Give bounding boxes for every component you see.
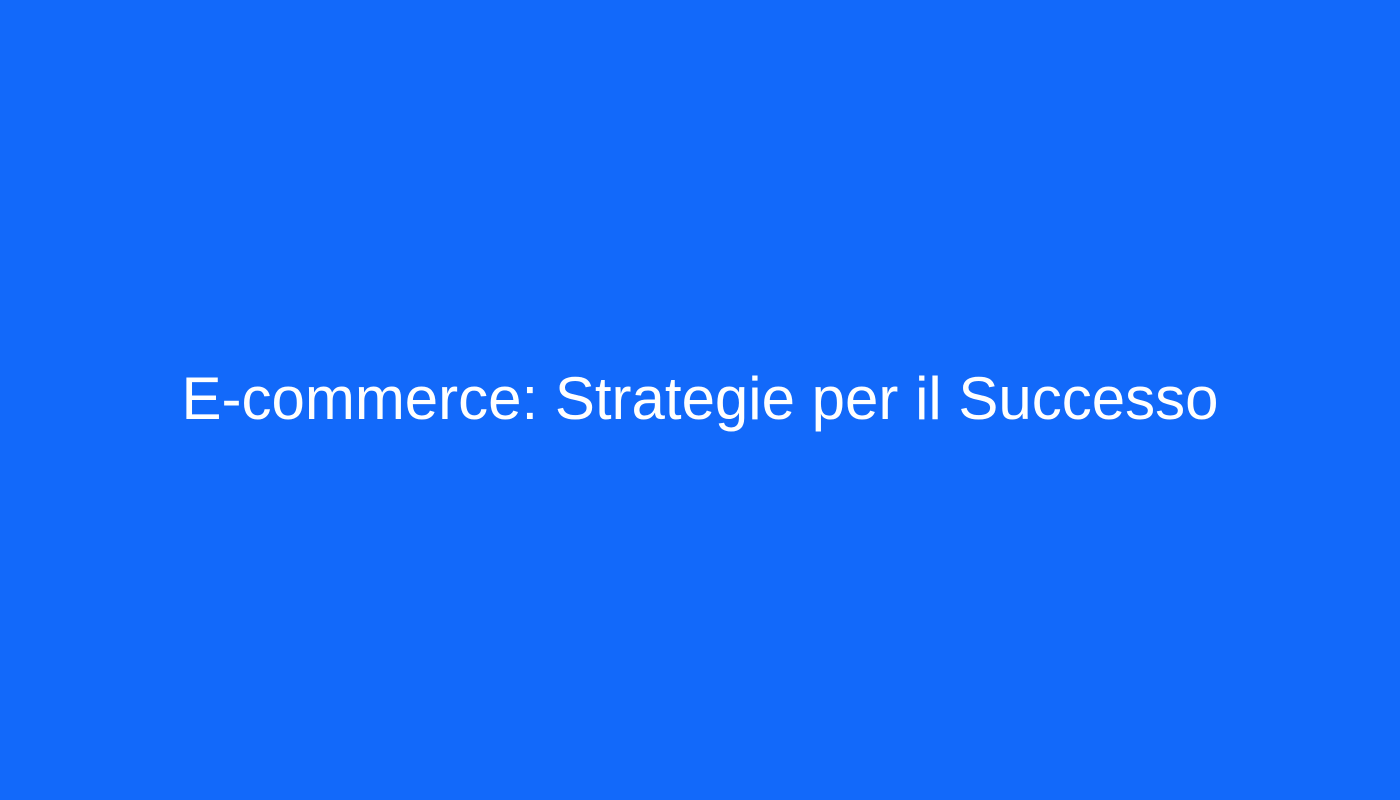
page-title: E-commerce: Strategie per il Successo bbox=[181, 364, 1218, 433]
hero-banner: E-commerce: Strategie per il Successo bbox=[0, 0, 1400, 800]
hero-title-container: E-commerce: Strategie per il Successo bbox=[0, 364, 1400, 433]
